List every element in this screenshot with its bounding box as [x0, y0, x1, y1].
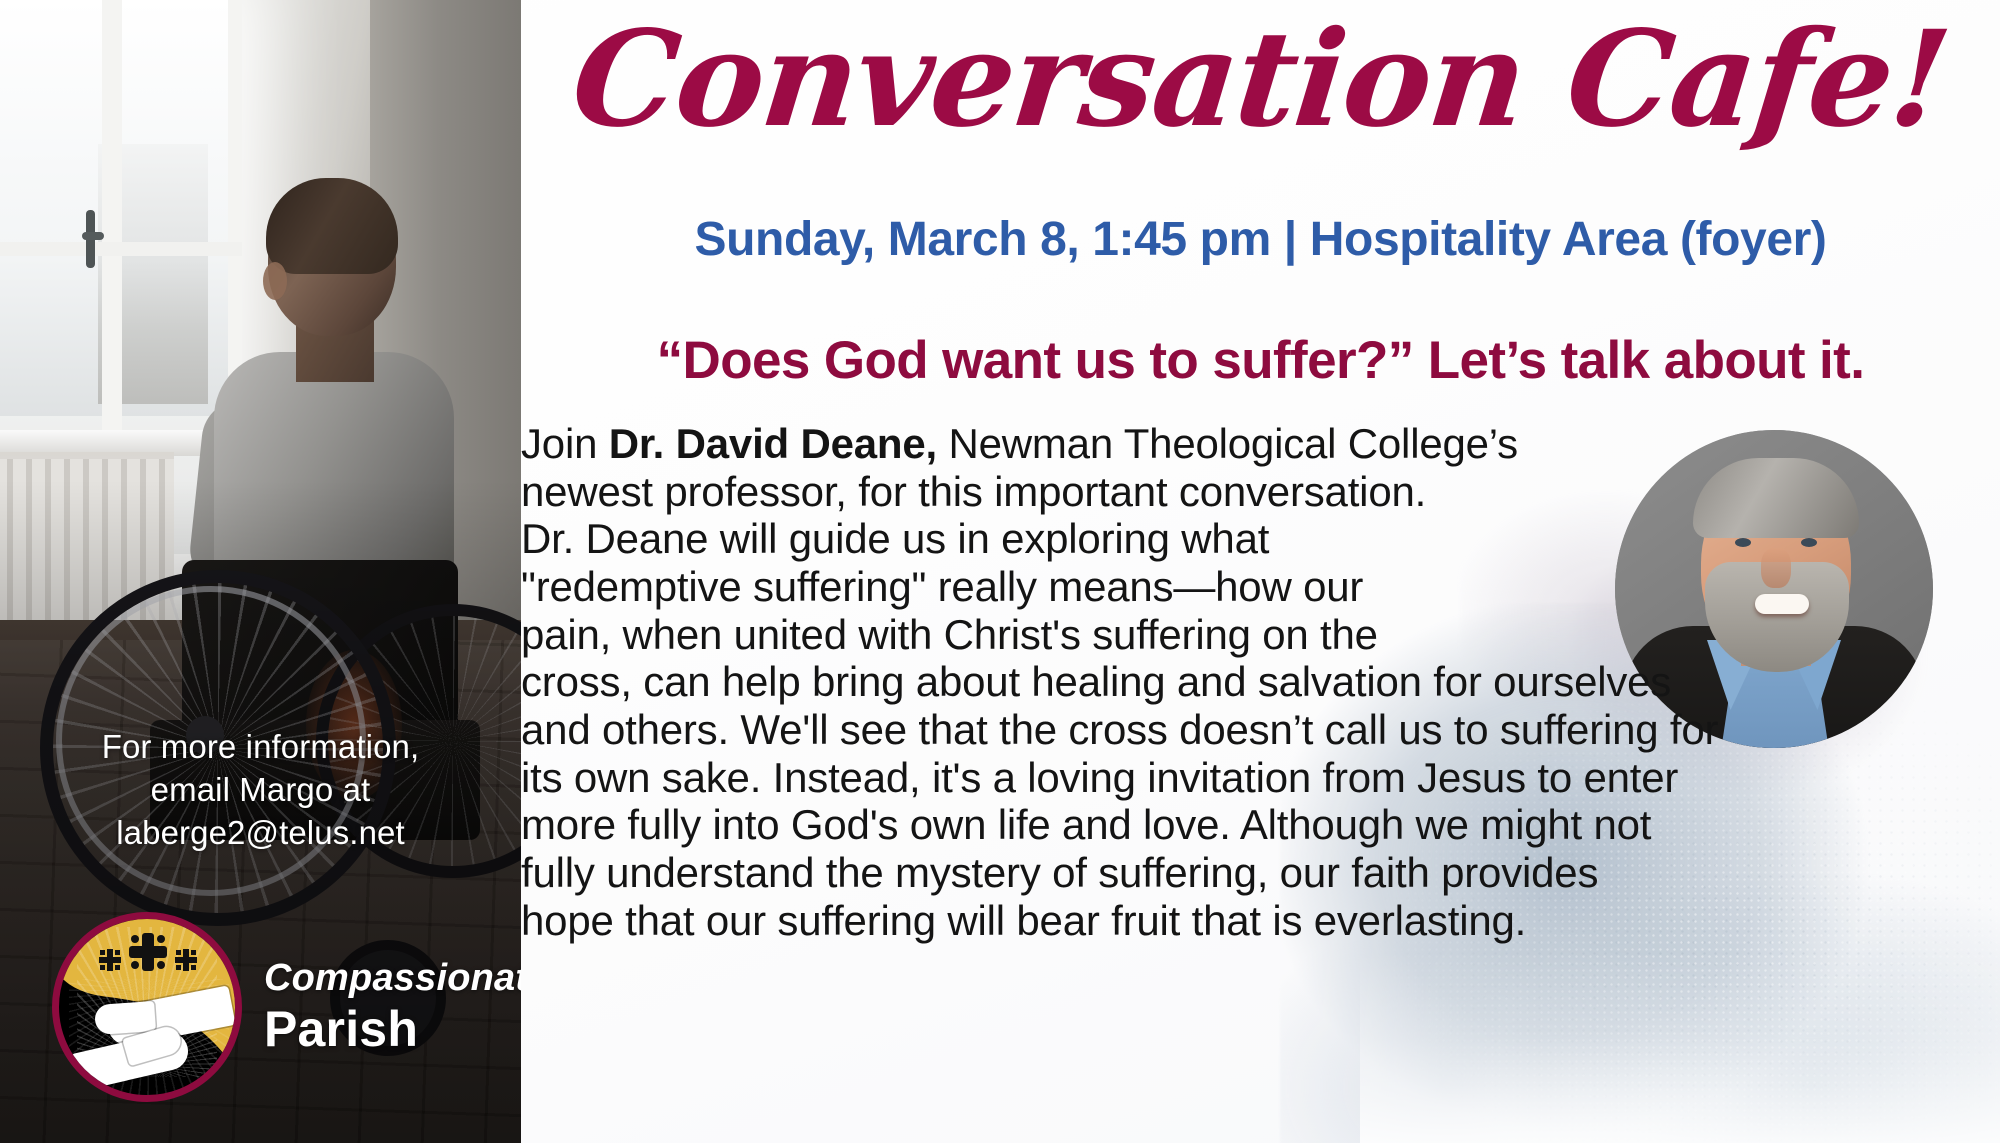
logo-wordmark: Compassionate Parish [264, 958, 521, 1055]
description-line: "redemptive suffering" really means—how … [521, 563, 1941, 611]
description-line: cross, can help bring about healing and … [521, 658, 1941, 706]
description-line: pain, when united with Christ's sufferin… [521, 611, 1941, 659]
poster-canvas: For more information, email Margo at lab… [0, 0, 2000, 1143]
description-line: newest professor, for this important con… [521, 468, 1941, 516]
description-line: Dr. Deane will guide us in exploring wha… [521, 515, 1941, 563]
jerusalem-cross-center-icon [129, 933, 167, 971]
description-line: Join Dr. David Deane, Newman Theological… [521, 420, 1941, 468]
event-title: Conversation Cafe! [514, 10, 2000, 150]
contact-line-2: email Margo at [0, 769, 521, 812]
description-text-pre: Join [521, 420, 609, 467]
description-line: its own sake. Instead, it's a loving inv… [521, 754, 1941, 802]
description-line: hope that our suffering will bear fruit … [521, 897, 1941, 945]
logo-hand-upper-fingers [94, 1001, 156, 1035]
event-description: Join Dr. David Deane, Newman Theological… [521, 420, 1941, 944]
jerusalem-cross-right-icon [175, 949, 197, 971]
contact-email[interactable]: laberge2@telus.net [0, 812, 521, 855]
description-text-post: Newman Theological College’s [937, 420, 1518, 467]
logo-line-parish: Parish [264, 1003, 521, 1056]
description-line: fully understand the mystery of sufferin… [521, 849, 1941, 897]
contact-info: For more information, email Margo at lab… [0, 726, 521, 855]
event-headline-question: “Does God want us to suffer?” Let’s talk… [521, 330, 2000, 391]
contact-line-1: For more information, [0, 726, 521, 769]
content-panel: Conversation Cafe! Sunday, March 8, 1:45… [521, 0, 2000, 1143]
description-line: more fully into God's own life and love.… [521, 801, 1941, 849]
description-line: and others. We'll see that the cross doe… [521, 706, 1941, 754]
jerusalem-cross-left-icon [99, 949, 121, 971]
event-datetime-location: Sunday, March 8, 1:45 pm | Hospitality A… [521, 212, 2000, 267]
logo-line-compassionate: Compassionate [264, 958, 521, 998]
compassionate-parish-logo: Compassionate Parish [52, 912, 521, 1102]
speaker-name: Dr. David Deane, [609, 420, 937, 467]
left-photo-panel: For more information, email Margo at lab… [0, 0, 521, 1143]
logo-badge-icon [52, 912, 242, 1102]
